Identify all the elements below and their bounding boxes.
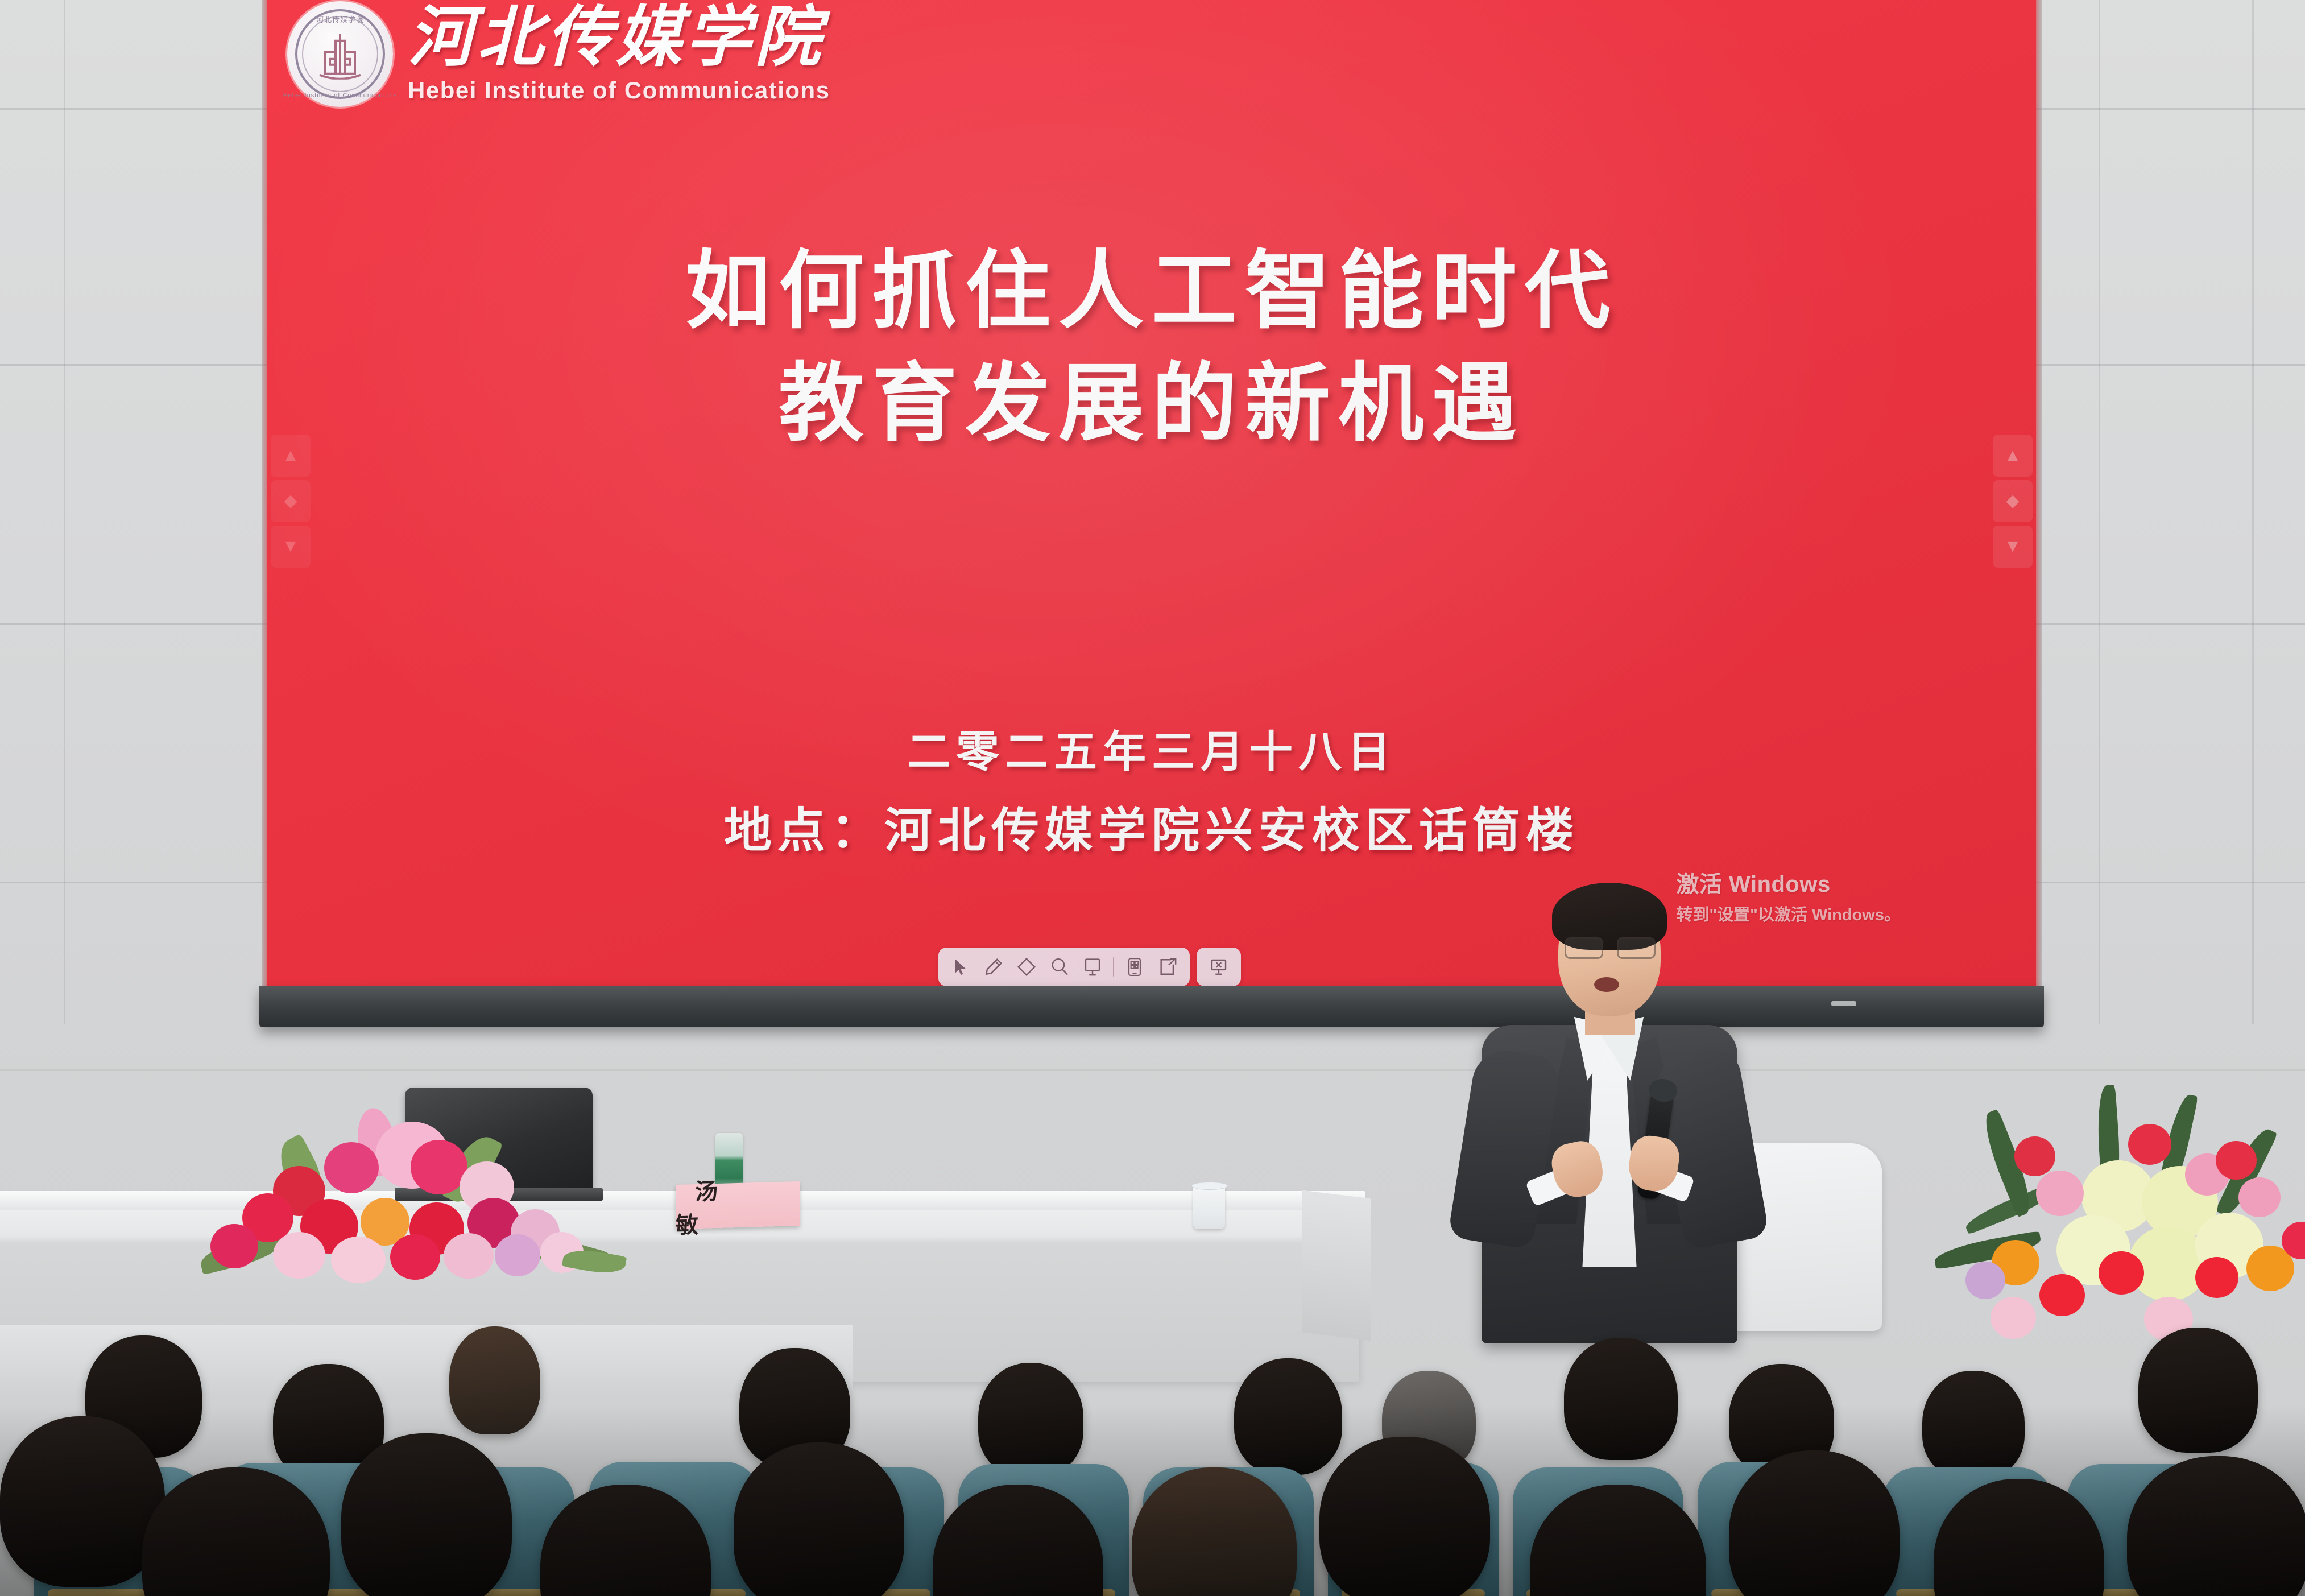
slide-place-line: 地点：河北传媒学院兴安校区话筒楼 — [267, 800, 2036, 862]
name-placard-text: 汤 敏 — [676, 1171, 800, 1240]
screen-bezel — [259, 986, 2044, 1027]
audience-head — [1922, 1371, 2025, 1479]
presentation-toolbar[interactable] — [938, 948, 1241, 986]
toolbar-group-tools[interactable] — [938, 948, 1190, 986]
whiteboard-icon[interactable] — [1076, 951, 1109, 983]
institution-logo: 河北传媒学院 Hebei Institute of Communications — [287, 1, 830, 107]
share-icon[interactable] — [1151, 951, 1184, 983]
audience-head — [1234, 1358, 1342, 1475]
speaker-person — [1459, 870, 1760, 1342]
chevron-down-icon[interactable]: ▼ — [1993, 526, 2033, 568]
glasses-icon — [1565, 937, 1656, 957]
slide-title-line-2: 教育发展的新机遇 — [267, 348, 2036, 461]
logo-institution-en: Hebei Institute of Communications — [408, 77, 830, 104]
seal-emblem-icon — [313, 31, 367, 80]
audience-head — [1564, 1338, 1678, 1460]
chevron-down-icon[interactable]: ▼ — [271, 526, 311, 568]
exit-presentation-icon[interactable] — [1202, 951, 1235, 983]
projected-slide[interactable]: 河北传媒学院 Hebei Institute of Communications — [267, 0, 2036, 986]
magnifier-icon[interactable] — [1043, 951, 1076, 983]
screen-indicator-icon — [1831, 1001, 1856, 1006]
audience-head — [978, 1363, 1083, 1477]
toolbar-separator — [1113, 957, 1114, 977]
audience-head — [1729, 1450, 1900, 1596]
audience-head — [734, 1442, 904, 1596]
pen-icon[interactable] — [977, 951, 1010, 983]
audience-head — [2138, 1328, 2258, 1453]
name-placard: 汤 敏 — [676, 1181, 800, 1229]
slide-subtitle: 二零二五年三月十八日 地点：河北传媒学院兴安校区话筒楼 — [267, 725, 2036, 862]
screen-right-edge — [2036, 0, 2042, 986]
seal-bottom-text: Hebei Institute of Communications — [283, 92, 398, 99]
qrcode-icon[interactable] — [1118, 951, 1151, 983]
seal-top-text: 河北传媒学院 — [316, 14, 364, 24]
logo-institution-cn: 河北传媒学院 — [408, 4, 830, 73]
speaker-mouth — [1594, 977, 1619, 992]
audience-head — [341, 1433, 512, 1596]
pointer-icon[interactable]: ◆ — [271, 480, 311, 522]
audience-head — [0, 1416, 165, 1587]
toolbar-group-exit[interactable] — [1197, 948, 1241, 986]
slide-title: 如何抓住人工智能时代 教育发展的新机遇 — [267, 235, 2036, 461]
slide-date-line: 二零二五年三月十八日 — [267, 725, 2036, 781]
chevron-up-icon[interactable]: ▲ — [1993, 435, 2033, 477]
university-seal-icon: 河北传媒学院 Hebei Institute of Communications — [287, 1, 393, 107]
teacup — [1193, 1185, 1225, 1229]
audience-seating — [0, 1297, 2305, 1596]
chevron-up-icon[interactable]: ▲ — [271, 435, 311, 477]
audience-head — [449, 1326, 540, 1434]
audience-head — [1319, 1437, 1490, 1596]
cursor-arrow-icon[interactable] — [944, 951, 977, 983]
bouquet-left — [188, 1098, 620, 1291]
slide-title-line-1: 如何抓住人工智能时代 — [267, 235, 2036, 348]
screen-left-edge — [262, 0, 267, 986]
projection-screen-unit: 河北传媒学院 Hebei Institute of Communications — [267, 0, 2036, 1020]
screen-controls-right[interactable]: ▲ ◆ ▼ — [1993, 435, 2033, 568]
screen-controls-left[interactable]: ▲ ◆ ▼ — [271, 435, 311, 568]
eraser-icon[interactable] — [1010, 951, 1043, 983]
lecture-hall-screenshot: 河北传媒学院 Hebei Institute of Communications — [0, 0, 2305, 1596]
pointer-icon[interactable]: ◆ — [1993, 480, 2033, 522]
